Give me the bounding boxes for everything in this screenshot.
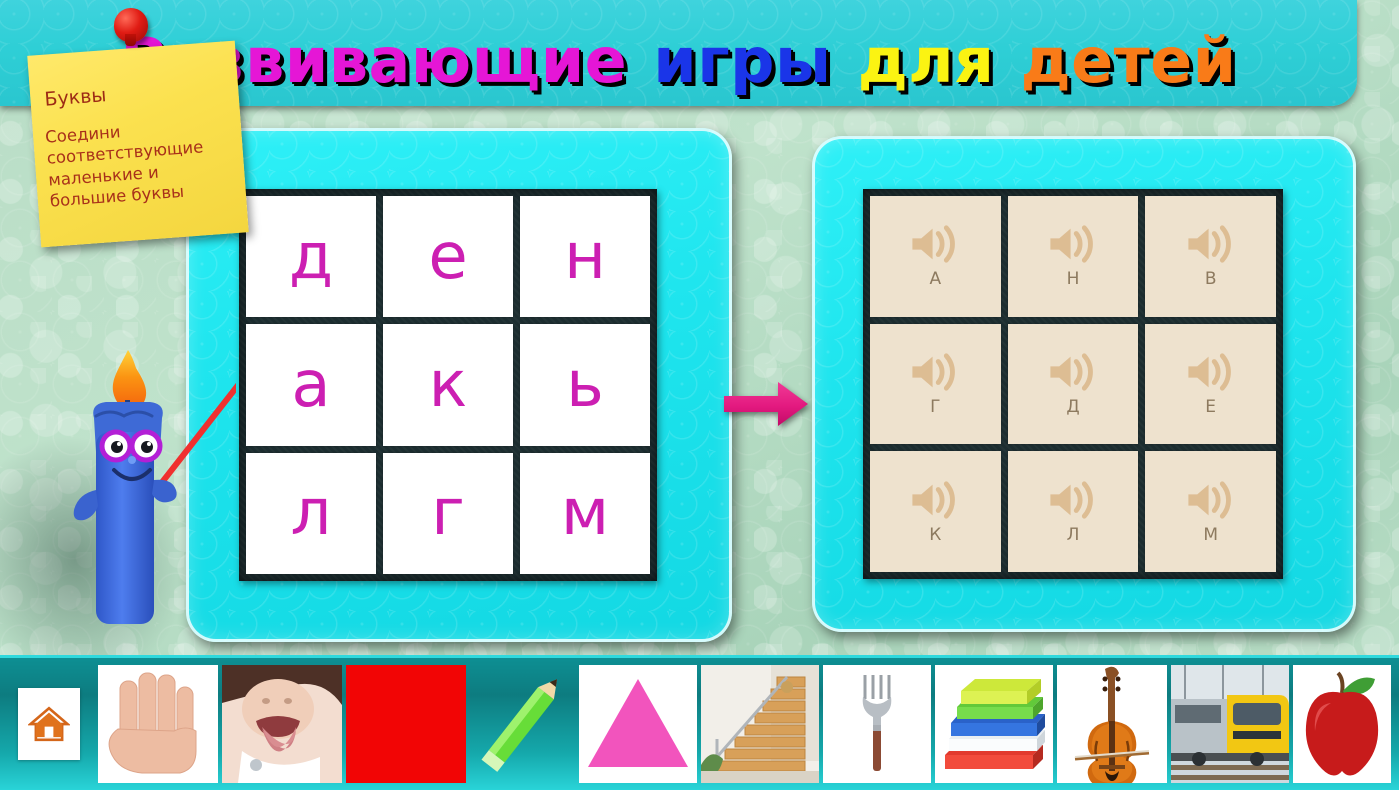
sound-tile[interactable]: Л: [1008, 451, 1139, 572]
pink-triangle-thumbnail[interactable]: [579, 665, 697, 783]
books-image: [935, 665, 1053, 783]
letter-tile[interactable]: н: [520, 196, 650, 317]
letter-tile[interactable]: м: [520, 453, 650, 574]
stairs-thumbnail[interactable]: [701, 665, 819, 783]
instruction-sticky-note: Буквы Соедини соответствующие маленькие …: [27, 41, 249, 248]
speaker-icon: [909, 223, 961, 265]
triangle-image: [579, 665, 697, 783]
letter-tile[interactable]: е: [383, 196, 513, 317]
speaker-icon: [1185, 479, 1237, 521]
right-arrow-icon: [722, 378, 810, 430]
title-word-4: детей: [1019, 24, 1239, 97]
sound-tile[interactable]: В: [1145, 196, 1276, 317]
apple-thumbnail[interactable]: [1293, 665, 1391, 783]
sound-tile-label: Е: [1205, 397, 1216, 417]
train-thumbnail[interactable]: [1171, 665, 1289, 783]
candle-mascot: [46, 340, 236, 630]
fork-thumbnail[interactable]: [823, 665, 931, 783]
sound-tile[interactable]: А: [870, 196, 1001, 317]
uppercase-panel: А Н В Г Д Е К Л: [812, 136, 1356, 632]
home-button[interactable]: [18, 688, 80, 760]
lowercase-panel: д е н а к ь л г м: [186, 128, 732, 642]
sound-tile[interactable]: Г: [870, 324, 1001, 445]
sound-tile[interactable]: Н: [1008, 196, 1139, 317]
sound-tile-label: М: [1203, 525, 1218, 545]
letter-tile[interactable]: к: [383, 324, 513, 445]
title-word-3: для: [856, 24, 997, 97]
sound-tile[interactable]: К: [870, 451, 1001, 572]
note-body: Соедини соответствующие маленькие и боль…: [44, 113, 236, 212]
sound-tile-label: В: [1205, 269, 1217, 289]
tongue-thumbnail[interactable]: [222, 665, 342, 783]
books-thumbnail[interactable]: [935, 665, 1053, 783]
hand-image: [98, 665, 218, 783]
apple-image: [1293, 665, 1391, 783]
sound-tile-label: А: [930, 269, 942, 289]
sound-tile[interactable]: Е: [1145, 324, 1276, 445]
note-title: Буквы: [44, 84, 107, 110]
letter-tile[interactable]: ь: [520, 324, 650, 445]
violin-image: [1057, 665, 1167, 783]
bottom-thumbnail-bar: [0, 655, 1399, 790]
sound-tile-label: Д: [1066, 397, 1079, 417]
uppercase-sound-grid: А Н В Г Д Е К Л: [863, 189, 1283, 579]
red-square-thumbnail[interactable]: [346, 665, 466, 783]
pointer-stick: [156, 375, 236, 490]
stairs-image: [701, 665, 819, 783]
push-pin-icon: [114, 8, 148, 42]
speaker-icon: [1185, 351, 1237, 393]
home-icon: [28, 703, 70, 745]
tongue-image: [222, 665, 342, 783]
speaker-icon: [909, 479, 961, 521]
hand-thumbnail[interactable]: [98, 665, 218, 783]
train-image: [1171, 665, 1289, 783]
sound-tile[interactable]: М: [1145, 451, 1276, 572]
sound-tile-label: Л: [1067, 525, 1080, 545]
sound-tile-label: К: [929, 525, 941, 545]
letter-tile[interactable]: л: [246, 453, 376, 574]
speaker-icon: [909, 351, 961, 393]
letter-tile[interactable]: г: [383, 453, 513, 574]
speaker-icon: [1047, 223, 1099, 265]
sound-tile[interactable]: Д: [1008, 324, 1139, 445]
violin-thumbnail[interactable]: [1057, 665, 1167, 783]
sound-tile-label: Г: [930, 397, 940, 417]
speaker-icon: [1185, 223, 1237, 265]
letter-tile[interactable]: а: [246, 324, 376, 445]
sound-tile-label: Н: [1067, 269, 1080, 289]
title-word-2: игры: [651, 24, 833, 97]
fork-image: [823, 665, 931, 783]
speaker-icon: [1047, 479, 1099, 521]
speaker-icon: [1047, 351, 1099, 393]
pencil-image: [470, 665, 575, 783]
lowercase-letter-grid: д е н а к ь л г м: [239, 189, 657, 581]
letter-tile[interactable]: д: [246, 196, 376, 317]
green-pencil-thumbnail[interactable]: [470, 665, 575, 783]
